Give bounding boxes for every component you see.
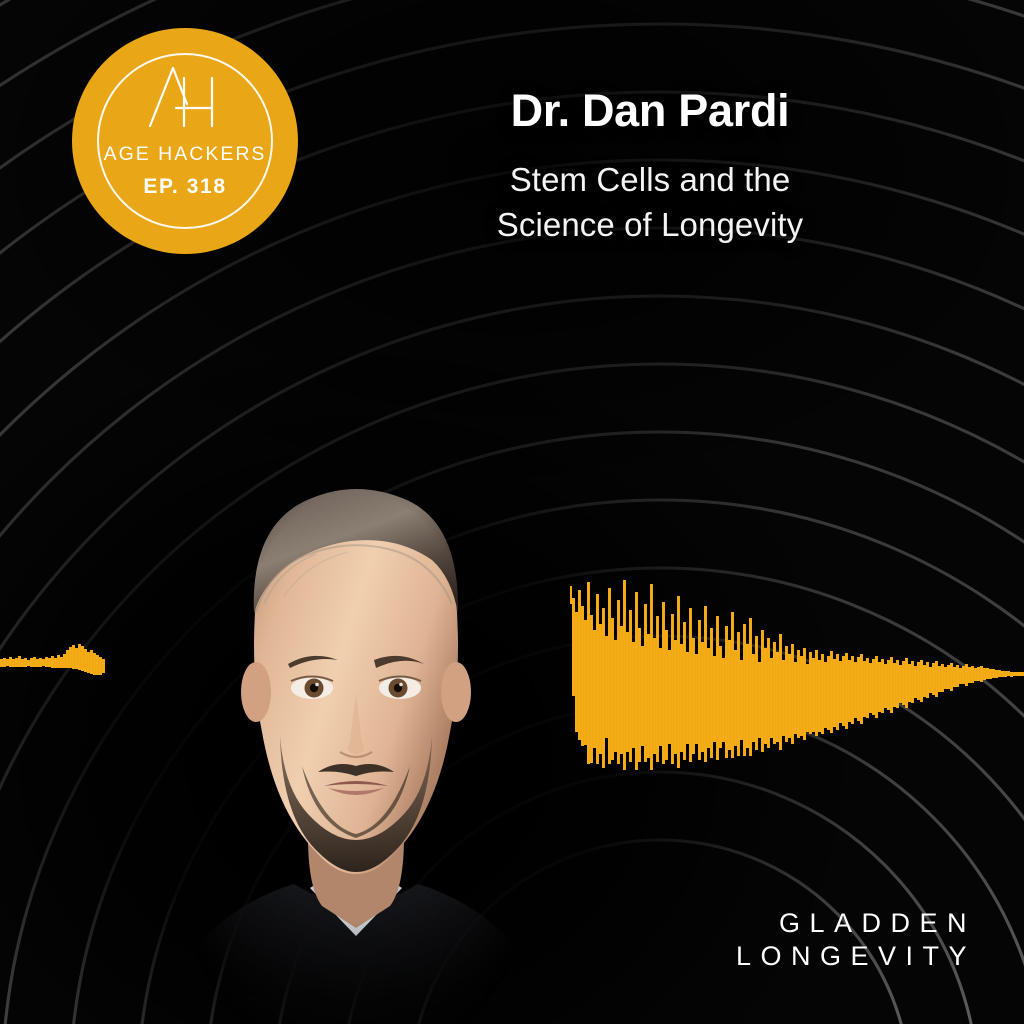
episode-subtitle: Stem Cells and the Science of Longevity: [390, 158, 910, 247]
brand-logo-line-1: GLADDEN: [726, 907, 976, 941]
badge-show-name: AGE HACKERS: [72, 145, 298, 165]
podcast-cover-art: AGE HACKERS EP. 318 Dr. Dan Pardi Stem C…: [0, 0, 1024, 1024]
age-hackers-monogram-icon: [142, 62, 228, 132]
episode-subtitle-line-1: Stem Cells and the: [510, 161, 791, 198]
brand-logo: GLADDEN LONGEVITY: [726, 907, 976, 975]
headline-block: Dr. Dan Pardi Stem Cells and the Science…: [390, 86, 910, 247]
episode-subtitle-line-2: Science of Longevity: [497, 206, 804, 243]
podcast-badge: AGE HACKERS EP. 318: [72, 28, 298, 254]
badge-episode-label: EP. 318: [72, 176, 298, 197]
guest-portrait: [184, 436, 528, 1024]
guest-name: Dr. Dan Pardi: [390, 86, 910, 136]
brand-logo-line-2: LONGEVITY: [726, 940, 976, 974]
